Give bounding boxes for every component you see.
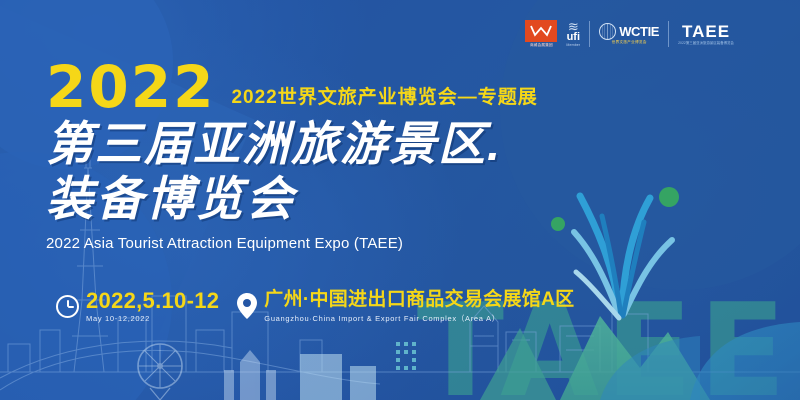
- ufi-wave-icon: ≋: [568, 22, 579, 32]
- partner-logo-bar: 商威会展集团 ≋ ufi Member WCTIE 世界文旅产业博览会 TAEE…: [525, 20, 734, 48]
- main-title-english: 2022 Asia Tourist Attraction Equipment E…: [46, 235, 538, 252]
- globe-icon: [599, 23, 616, 40]
- event-date-item: 2022,5.10-12 May 10-12,2022: [56, 289, 219, 323]
- event-venue-item: 广州·中国进出口商品交易会展馆A区 Guangzhou·China Import…: [237, 288, 574, 324]
- taee-wordmark: TAEE: [682, 23, 730, 40]
- event-venue-main: 广州·中国进出口商品交易会展馆A区: [264, 288, 574, 311]
- shangwei-mark-icon: [525, 20, 557, 42]
- wctie-caption: 世界文旅产业博览会: [612, 40, 647, 45]
- big-year-text: 2022: [46, 58, 215, 116]
- wctie-wordmark: WCTIE: [619, 25, 659, 38]
- shangwei-caption: 商威会展集团: [530, 43, 553, 48]
- w-glyph-icon: [530, 25, 552, 37]
- event-date-main: 2022,5.10-12: [86, 289, 219, 312]
- logo-divider-1: [589, 21, 590, 47]
- wctie-logo[interactable]: WCTIE 世界文旅产业博览会: [599, 23, 659, 45]
- taee-caption: 2022第三届亚洲旅游景区装备博览会: [678, 40, 734, 45]
- clock-icon: [56, 295, 79, 318]
- main-title-line1: 第三届亚洲旅游景区.: [46, 116, 538, 171]
- logo-divider-2: [668, 21, 669, 47]
- ufi-wordmark: ufi: [567, 32, 580, 43]
- ufi-logo[interactable]: ≋ ufi Member: [566, 22, 580, 47]
- event-venue-sub: Guangzhou·China Import & Export Fair Com…: [264, 313, 574, 324]
- location-pin-icon: [237, 293, 257, 319]
- expo-subtitle: 2022世界文旅产业博览会—专题展: [231, 82, 537, 116]
- expo-banner: 2022 TAEE: [0, 0, 800, 400]
- main-title-line2: 装备博览会: [46, 171, 538, 226]
- year-and-expo-row: 2022 2022世界文旅产业博览会—专题展: [46, 58, 538, 116]
- shangwei-logo[interactable]: 商威会展集团: [525, 20, 557, 48]
- ufi-caption: Member: [566, 43, 580, 47]
- event-date-sub: May 10-12,2022: [86, 314, 219, 323]
- event-info-row: 2022,5.10-12 May 10-12,2022 广州·中国进出口商品交易…: [56, 288, 574, 324]
- headline-block: 2022 2022世界文旅产业博览会—专题展 第三届亚洲旅游景区. 装备博览会 …: [46, 58, 538, 252]
- taee-logo[interactable]: TAEE 2022第三届亚洲旅游景区装备博览会: [678, 23, 734, 45]
